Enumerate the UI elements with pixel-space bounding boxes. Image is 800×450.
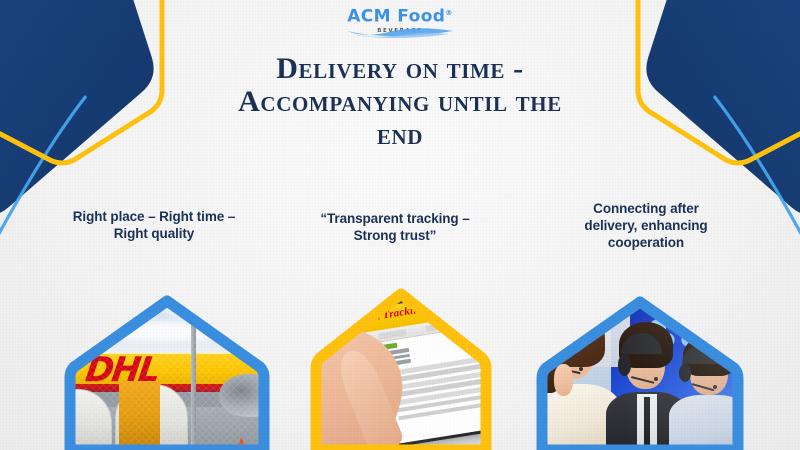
photo-light-overlay [520, 288, 760, 450]
card-air-freight[interactable]: DHL AKE 1126 DHL AKE 1128 DHL [48, 285, 286, 450]
brand-wordmark: ACM Food® [347, 4, 453, 26]
caption-line: Right quality [44, 225, 264, 242]
page-title-line-3: end [100, 118, 700, 151]
caption-connecting-after-delivery: Connecting after delivery, enhancing coo… [534, 200, 758, 251]
page-title-line-1: Delivery on time - [100, 52, 700, 85]
nav-chip [378, 329, 406, 339]
wave-swoosh-icon [345, 22, 455, 38]
card-customer-support[interactable] [520, 288, 760, 450]
slide-canvas: ACM Food® BEVERAGE Delivery on time - Ac… [0, 0, 800, 450]
caption-line: cooperation [534, 234, 758, 251]
page-title-line-2: Accompanying until the [100, 85, 700, 118]
page-title: Delivery on time - Accompanying until th… [100, 52, 700, 151]
photo-call-centre-agents [520, 288, 760, 450]
caption-line: “Transparent tracking – [288, 210, 502, 227]
card-shipment-tracking[interactable]: Shipment Tracking [296, 280, 506, 450]
fence-mesh-overlay [48, 285, 286, 450]
registered-mark-icon: ® [445, 9, 452, 17]
caption-line: delivery, enhancing [534, 217, 758, 234]
caption-line: Connecting after [534, 200, 758, 217]
caption-right-place: Right place – Right time – Right quality [44, 208, 264, 242]
brand-logo: ACM Food® BEVERAGE [340, 4, 460, 46]
caption-line: Right place – Right time – [44, 208, 264, 225]
thumb [296, 369, 311, 423]
caption-transparent-tracking: “Transparent tracking – Strong trust” [288, 210, 502, 244]
photo-tablet-tracking: Shipment Tracking [296, 280, 506, 450]
caption-line: Strong trust” [288, 227, 502, 244]
photo-dhl-cargo-plane: DHL AKE 1126 DHL AKE 1128 DHL [48, 285, 286, 450]
